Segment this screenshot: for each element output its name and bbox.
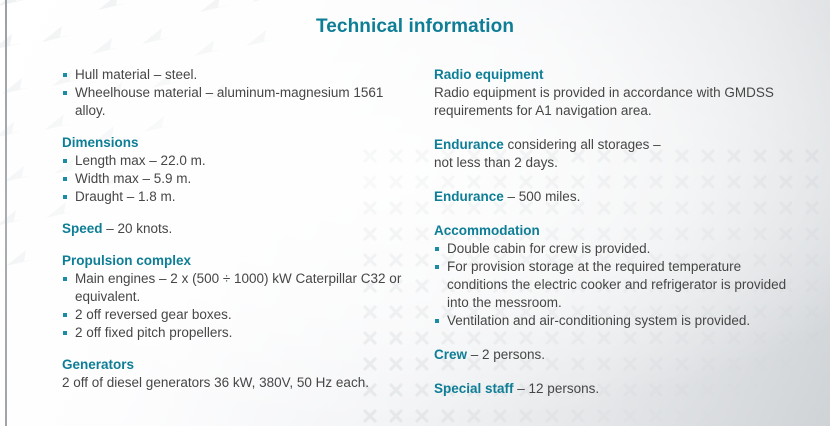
list-item: 2 off fixed pitch propellers.: [62, 324, 412, 342]
left-column: Hull material – steel. Wheelhouse materi…: [62, 66, 412, 392]
list-item: 2 off reversed gear boxes.: [62, 306, 412, 324]
heading-generators: Generators: [62, 356, 412, 374]
endurance-storages-row: Endurance considering all storages –: [434, 136, 796, 154]
endurance-storages-label: Endurance: [434, 137, 504, 152]
generators-text: 2 off of diesel generators 36 kW, 380V, …: [62, 374, 412, 392]
special-staff-value: – 12 persons.: [514, 381, 600, 396]
page-title: Technical information: [0, 16, 830, 38]
heading-dimensions: Dimensions: [62, 134, 412, 152]
right-column: Radio equipment Radio equipment is provi…: [434, 66, 796, 398]
intro-bullet-list: Hull material – steel. Wheelhouse materi…: [62, 66, 412, 120]
endurance-range-row: Endurance – 500 miles.: [434, 188, 796, 206]
dimensions-bullet-list: Length max – 22.0 m. Width max – 5.9 m. …: [62, 152, 412, 206]
heading-accommodation: Accommodation: [434, 222, 796, 240]
crew-value: – 2 persons.: [467, 347, 545, 362]
slide-canvas: Technical information Hull material – st…: [0, 0, 830, 426]
endurance-storages-second-line: not less than 2 days.: [434, 154, 796, 172]
endurance-range-label: Endurance: [434, 189, 504, 204]
list-item: Wheelhouse material – aluminum-magnesium…: [62, 84, 412, 120]
propulsion-bullet-list: Main engines – 2 x (500 ÷ 1000) kW Cater…: [62, 270, 412, 342]
accommodation-bullet-list: Double cabin for crew is provided. For p…: [434, 240, 796, 330]
list-item: Width max – 5.9 m.: [62, 170, 412, 188]
radio-equipment-text: Radio equipment is provided in accordanc…: [434, 84, 796, 120]
list-item: Draught – 1.8 m.: [62, 188, 412, 206]
speed-label: Speed: [62, 221, 103, 236]
speed-value: – 20 knots.: [103, 221, 173, 236]
endurance-range-value: – 500 miles.: [504, 189, 581, 204]
list-item: Hull material – steel.: [62, 66, 412, 84]
crew-row: Crew – 2 persons.: [434, 346, 796, 364]
special-staff-label: Special staff: [434, 381, 514, 396]
heading-propulsion-complex: Propulsion complex: [62, 252, 412, 270]
special-staff-row: Special staff – 12 persons.: [434, 380, 796, 398]
crew-label: Crew: [434, 347, 467, 362]
heading-radio-equipment: Radio equipment: [434, 66, 796, 84]
list-item: Length max – 22.0 m.: [62, 152, 412, 170]
list-item: For provision storage at the required te…: [434, 258, 796, 312]
list-item: Main engines – 2 x (500 ÷ 1000) kW Cater…: [62, 270, 412, 306]
list-item: Double cabin for crew is provided.: [434, 240, 796, 258]
speed-row: Speed – 20 knots.: [62, 220, 412, 238]
list-item: Ventilation and air-conditioning system …: [434, 312, 796, 330]
endurance-storages-value: considering all storages –: [504, 137, 661, 152]
